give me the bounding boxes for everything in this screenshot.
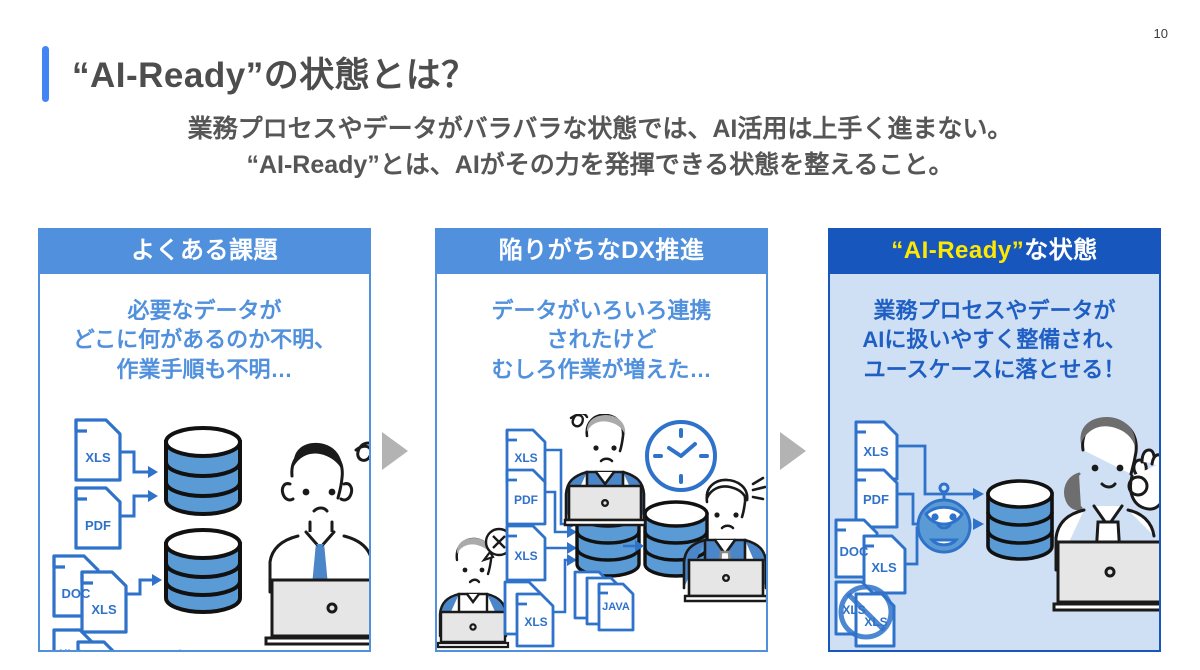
panel-2-header: 陥りがちなDX推進 xyxy=(435,228,768,274)
laptop-icon-right xyxy=(685,560,766,601)
doc-label-xls-1: XLS xyxy=(863,444,889,459)
subtitle-line-2: “AI-Ready”とは、AIがその力を発揮できる状態を整えること。 xyxy=(0,148,1200,184)
doc-label-xls-2: XLS xyxy=(514,549,537,563)
page-title: “AI-Ready”の状態とは？ xyxy=(72,47,477,98)
subtitle-line-1: 業務プロセスやデータがバラバラな状態では、AI活用は上手く進まない。 xyxy=(0,112,1200,148)
panel-2-line-3: むしろ作業が増えた… xyxy=(437,355,766,384)
unknown-marker: ? xyxy=(172,644,188,650)
panel-dx-pitfall: 陥りがちなDX推進 データがいろいろ連携 されたけど むしろ作業が増えた… xyxy=(435,228,768,652)
panel-2-body: データがいろいろ連携 されたけど むしろ作業が増えた… xyxy=(435,274,768,652)
confused-businessman xyxy=(270,443,369,592)
panel-3-line-2: AIに扱いやすく整備され、 xyxy=(830,325,1159,354)
subtitle: 業務プロセスやデータがバラバラな状態では、AI活用は上手く進まない。 “AI-R… xyxy=(0,112,1200,183)
panel-3-line-3: ユースケースに落とせる！ xyxy=(830,355,1159,384)
doc-label-pdf: PDF xyxy=(514,493,538,507)
panel-2-line-2: されたけど xyxy=(437,325,766,354)
panel-3-text: 業務プロセスやデータが AIに扱いやすく整備され、 ユースケースに落とせる！ xyxy=(830,274,1159,384)
panel-3-line-1: 業務プロセスやデータが xyxy=(830,296,1159,325)
panel-2-line-1: データがいろいろ連携 xyxy=(437,296,766,325)
doc-label-xls-2: XLS xyxy=(871,560,897,575)
title-accent-bar xyxy=(42,46,49,102)
panel-3-header-suffix: な状態 xyxy=(1024,237,1098,264)
clock-icon xyxy=(647,422,715,490)
panel-3-body: 業務プロセスやデータが AIに扱いやすく整備され、 ユースケースに落とせる！ xyxy=(828,274,1161,652)
panel-1-header: よくある課題 xyxy=(38,228,371,274)
panel-1-line-3: 作業手順も不明… xyxy=(40,355,369,384)
database-icon-1 xyxy=(166,428,240,514)
laptop-icon-center xyxy=(565,486,645,525)
laptop-icon-woman xyxy=(1054,542,1159,610)
panel-ai-ready: “AI-Ready”な状態 業務プロセスやデータが AIに扱いやすく整備され、 … xyxy=(828,228,1161,652)
flow-arrow-2 xyxy=(780,432,806,470)
slide: “AI-Ready”の状態とは？ 10 業務プロセスやデータがバラバラな状態では… xyxy=(0,0,1200,670)
doc-label-xls-3: XLS xyxy=(524,615,547,629)
doc-label-doc: DOC xyxy=(62,586,92,601)
doc-label-java: JAVA xyxy=(602,601,630,613)
doc-label-xls-2: XLS xyxy=(91,602,117,617)
doc-label-xls-1: XLS xyxy=(514,451,537,465)
database-icon-1 xyxy=(988,481,1052,559)
panel-common-issues: よくある課題 必要なデータが どこに何があるのか不明、 作業手順も不明… xyxy=(38,228,371,652)
panel-3-header: “AI-Ready”な状態 xyxy=(828,228,1161,274)
doc-label-doc: DOC xyxy=(840,544,870,559)
panel-1-body: 必要なデータが どこに何があるのか不明、 作業手順も不明… xyxy=(38,274,371,652)
laptop-icon-1 xyxy=(266,580,369,644)
title-row: “AI-Ready”の状態とは？ xyxy=(0,22,1200,84)
page-number: 10 xyxy=(1154,26,1168,41)
database-icon-2 xyxy=(166,530,240,612)
panel-2-illustration: XLS PDF XLS XLS xyxy=(437,414,766,650)
doc-label-pdf: PDF xyxy=(85,518,111,533)
panels-row: よくある課題 必要なデータが どこに何があるのか不明、 作業手順も不明… xyxy=(0,228,1200,653)
laptop-icon-left xyxy=(438,612,508,647)
doc-label-xls-1: XLS xyxy=(85,450,111,465)
panel-2-text: データがいろいろ連携 されたけど むしろ作業が増えた… xyxy=(437,274,766,384)
panel-1-line-1: 必要なデータが xyxy=(40,296,369,325)
panel-1-line-2: どこに何があるのか不明、 xyxy=(40,325,369,354)
flow-arrow-1 xyxy=(382,432,408,470)
panel-1-illustration: XLS PDF DOC XLS XLS XLS xyxy=(40,414,369,650)
doc-label-xls-3: XLS xyxy=(59,647,82,650)
panel-3-illustration: XLS PDF DOC XLS XLS XLS xyxy=(830,414,1159,650)
doc-label-pdf: PDF xyxy=(863,492,889,507)
panel-3-header-highlight: “AI-Ready” xyxy=(891,237,1024,264)
panel-1-text: 必要なデータが どこに何があるのか不明、 作業手順も不明… xyxy=(40,274,369,384)
